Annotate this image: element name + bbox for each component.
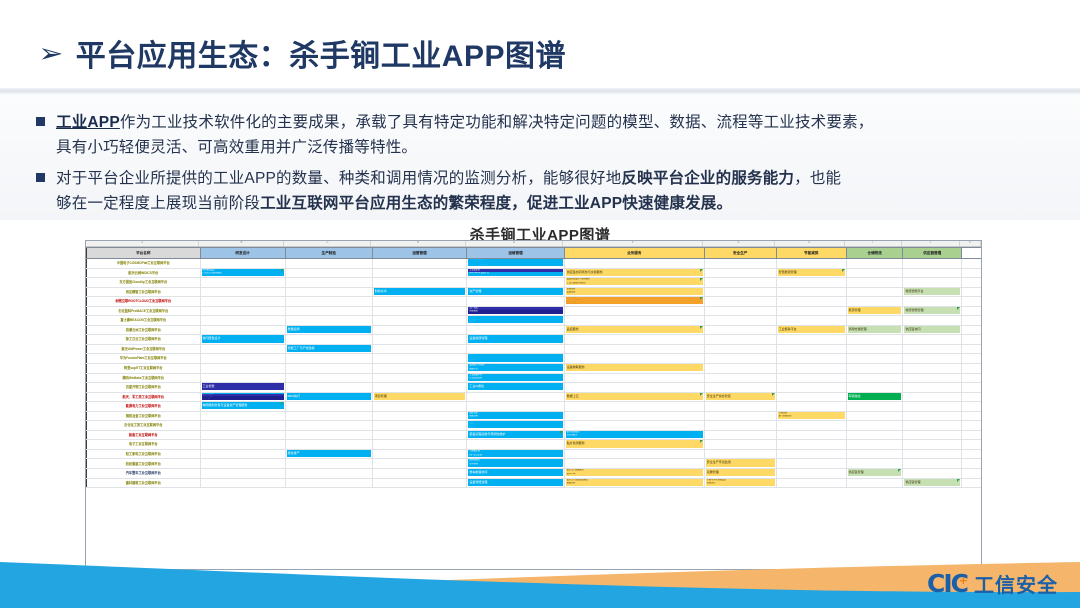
atlas-grid: 平台名称研发设计生产制造运营管理运维管理业务服务安全生产节能减排仓储物流供应链管…	[86, 247, 982, 488]
matrix-cell: 高炉优化能耗分析	[467, 411, 564, 421]
matrix-cell	[564, 344, 704, 354]
matrix-cell: 协同研发设计产品全生命周期管理	[200, 268, 285, 278]
matrix-cell	[962, 306, 982, 316]
table-row[interactable]: 百度开物工业互联网平台工业视觉工业AI质检	[87, 383, 983, 393]
matrix-bar: 设备运维	[566, 291, 703, 295]
matrix-cell	[776, 297, 846, 307]
matrix-cell	[564, 459, 704, 469]
matrix-cell	[846, 364, 903, 374]
comment-marker-icon	[957, 307, 960, 310]
matrix-cell: 面料数据库打样协同	[467, 459, 564, 469]
matrix-bar: 数据中台	[468, 368, 562, 372]
table-row[interactable]: 阿里supET工业互联网平台设备接入与管理数据中台设备物联服务	[87, 364, 983, 374]
matrix-bar: 排放管控	[706, 482, 775, 486]
spreadsheet-col-letter: I	[845, 241, 902, 246]
row-label: 中国电子COSMOPlat工业互联网平台	[87, 259, 201, 269]
matrix-bar: 烟气智能处理	[778, 415, 845, 419]
matrix-cell	[903, 402, 962, 412]
matrix-cell	[372, 325, 467, 335]
matrix-cell	[200, 478, 285, 488]
matrix-cell	[903, 440, 962, 450]
cell-bars: 安全生产环境监测	[706, 459, 775, 468]
cell-bars: 通用仓储管理	[848, 326, 902, 335]
matrix-bar: 智能巡检	[468, 310, 562, 314]
matrix-cell	[962, 344, 982, 354]
matrix-cell: 设备上云智能制造单元质量管控	[467, 316, 564, 326]
matrix-cell	[776, 421, 846, 431]
matrix-cell	[285, 335, 372, 345]
matrix-bar: 协同研发设计	[202, 335, 284, 342]
row-label: 腾讯WeMake工业互联网平台	[87, 373, 201, 383]
matrix-cell	[372, 469, 467, 479]
matrix-bar: 供应链管理	[848, 469, 902, 476]
bullet-run: 工业APP	[56, 114, 120, 131]
cell-bars: 工业视觉	[202, 383, 284, 392]
cell-bars: 工业AI质检	[468, 383, 562, 392]
matrix-cell	[846, 335, 903, 345]
comment-marker-icon	[700, 278, 703, 281]
matrix-cell	[564, 316, 704, 326]
row-label: 石化化工类工业互联网平台	[87, 421, 201, 431]
cell-bars: 协同研发设计	[202, 335, 284, 344]
matrix-cell	[776, 478, 846, 488]
matrix-cell	[903, 411, 962, 421]
row-label: 东方国信Cloudiip工业互联网平台	[87, 278, 201, 288]
matrix-cell	[962, 430, 982, 440]
matrix-cell	[903, 316, 962, 326]
table-row[interactable]: 紫光UNIPower工业互联网平台智能工厂与产线建模	[87, 344, 983, 354]
matrix-cell	[846, 354, 903, 364]
matrix-cell	[704, 297, 776, 307]
matrix-bar: 安全生产综合管控	[706, 393, 775, 400]
matrix-cell	[285, 383, 372, 393]
matrix-cell	[846, 411, 903, 421]
cell-bars: 军民融合	[848, 393, 902, 402]
row-label: 建材建筑工业互联网平台	[87, 478, 201, 488]
matrix-cell	[200, 449, 285, 459]
matrix-bar: 安全生产环境监测	[706, 459, 775, 466]
comment-marker-icon	[957, 479, 960, 482]
column-header: 研发设计	[200, 248, 285, 259]
matrix-cell	[704, 344, 776, 354]
matrix-cell: 装备远程运维与预测性维护	[467, 430, 564, 440]
matrix-cell	[962, 421, 982, 431]
row-label: 纺织服装工业互联网平台	[87, 459, 201, 469]
matrix-cell	[467, 278, 564, 288]
matrix-cell	[962, 278, 982, 288]
matrix-cell	[704, 287, 776, 297]
table-row[interactable]: 装备工业互联网平台装备远程运维与预测性维护备件管理服务后市场服务	[87, 430, 983, 440]
matrix-cell	[285, 268, 372, 278]
bullet-item: 工业APP作为工业技术软件化的主要成果，承载了具有特定功能和解决特定问题的模型、…	[36, 110, 1048, 160]
matrix-cell	[285, 402, 372, 412]
matrix-cell	[846, 478, 903, 488]
table-row[interactable]: 航天、军工类工业互联网平台协同设计与仿真型号研制管理数字孪生建模知识工程MES执…	[87, 392, 983, 402]
matrix-cell: 边缘计算设备数据采集云边协同	[467, 354, 564, 364]
matrix-bar: 物流智能管理	[904, 307, 960, 314]
matrix-cell: 能源管理	[846, 306, 903, 316]
matrix-cell: 资产管理	[467, 287, 564, 297]
matrix-cell	[962, 297, 982, 307]
matrix-cell: 协同设计与仿真型号研制管理数字孪生建模知识工程	[200, 392, 285, 402]
cell-bars: 财务共享	[374, 288, 466, 297]
matrix-bar: 供应链协同	[904, 326, 960, 333]
matrix-cell	[962, 316, 982, 326]
column-header: 业务服务	[564, 248, 704, 259]
matrix-cell	[372, 297, 467, 307]
row-label: 能源电力工业互联网平台	[87, 402, 201, 412]
spreadsheet-col-letter: D	[371, 241, 466, 246]
matrix-cell: 节能与节水系统改造排放管控	[704, 478, 776, 488]
matrix-cell	[846, 316, 903, 326]
matrix-bar: 资产管理	[468, 288, 562, 295]
cell-bars: 流程优化装置健康安环监测智能排产	[468, 421, 562, 430]
matrix-cell	[200, 421, 285, 431]
cell-bars: 余热回收烟气智能处理	[778, 412, 845, 421]
bullet-square-icon	[36, 173, 45, 182]
matrix-cell	[372, 449, 467, 459]
matrix-cell	[962, 469, 982, 479]
matrix-cell: 智慧能源管理	[776, 268, 846, 278]
matrix-cell: 工业AI质检	[467, 383, 564, 393]
matrix-bar: 品控服务	[566, 326, 703, 333]
matrix-cell	[704, 373, 776, 383]
matrix-cell	[564, 306, 704, 316]
matrix-cell	[903, 278, 962, 288]
table-row[interactable]: 石化化工类工业互联网平台流程优化装置健康安环监测智能排产	[87, 421, 983, 431]
cell-bars: 协同设计与仿真型号研制管理数字孪生建模知识工程	[202, 393, 284, 402]
matrix-cell	[776, 430, 846, 440]
table-row[interactable]: 汽车整车工业互联网平台整车制造协同安全生产数据服务整车OTA双碳管理供应链管理	[87, 469, 983, 479]
matrix-cell	[467, 440, 564, 450]
cell-bars: 设备接入与管理数据中台	[468, 364, 562, 373]
matrix-cell	[846, 278, 903, 288]
matrix-cell	[285, 373, 372, 383]
table-row[interactable]: 能源电力工业互联网平台电网规划仿真与设备资产管理服务	[87, 402, 983, 412]
matrix-cell	[564, 449, 704, 459]
matrix-cell	[200, 459, 285, 469]
matrix-cell	[846, 373, 903, 383]
matrix-bar: 设备智能托管服务	[566, 303, 703, 305]
spreadsheet-col-letter: K	[960, 241, 981, 246]
cell-bars: 设备物联服务	[566, 364, 703, 373]
matrix-cell	[372, 306, 467, 316]
table-row[interactable]: 中国电子COSMOPlat工业互联网平台标准和规范管理服务产品数据服务客户化生产…	[87, 259, 983, 269]
column-header: 运维管理	[467, 248, 564, 259]
matrix-cell	[846, 430, 903, 440]
cell-bars: 设备租赁服务工业品客户增值服务融资租赁服务设备智能托管服务	[566, 297, 703, 306]
cell-bars: 品控服务	[566, 326, 703, 335]
matrix-cell	[776, 335, 846, 345]
matrix-cell	[467, 344, 564, 354]
matrix-bar: MRO/MOM 运维平台	[468, 272, 562, 276]
matrix-cell	[962, 402, 982, 412]
table-row[interactable]: 建材建筑工业互联网平台设备智能治理安全生产远程巡查服务数据分析节能与节水系统改造…	[87, 478, 983, 488]
row-label: 装备工业互联网平台	[87, 430, 201, 440]
matrix-cell	[372, 268, 467, 278]
matrix-cell	[962, 354, 982, 364]
row-label: 汽车整车工业互联网平台	[87, 469, 201, 479]
matrix-cell	[903, 469, 962, 479]
matrix-cell	[372, 478, 467, 488]
matrix-bar: 能源管理	[848, 307, 902, 314]
bullet-run: 够在一定程度上展现当前阶段	[56, 195, 260, 212]
cell-bars: 物流智能管理	[904, 307, 960, 316]
matrix-cell: 工业数据中心企业微信协同	[467, 373, 564, 383]
row-label: 用友精智工业互联网平台	[87, 287, 201, 297]
matrix-cell	[962, 383, 982, 393]
matrix-cell: 供应链协同商务与交易服务	[564, 268, 704, 278]
matrix-cell	[776, 383, 846, 393]
matrix-cell	[200, 440, 285, 450]
matrix-cell	[467, 297, 564, 307]
matrix-bar: 数据上云	[566, 393, 703, 400]
matrix-cell: 设备状态监控与预测服务工业大数据分析服务	[564, 278, 704, 288]
cell-bars: 供应链协同商务与交易服务	[566, 269, 703, 278]
table-row[interactable]: 航天云网INDICS平台协同研发设计产品全生命周期管理工业云应用MRO/MOM …	[87, 268, 983, 278]
cell-bars: 项目管理	[374, 393, 466, 402]
table-row[interactable]: 钢铁冶金工业互联网平台高炉优化能耗分析余热回收烟气智能处理	[87, 411, 983, 421]
matrix-cell	[776, 449, 846, 459]
comment-marker-icon	[700, 326, 703, 329]
matrix-cell	[200, 259, 285, 269]
matrix-cell	[776, 459, 846, 469]
bullet-run: 工业互联网平台应用生态的繁荣程度，促进工业APP快速健康发展。	[260, 195, 732, 212]
table-row[interactable]: 浪潮云洲工业互联网平台质量追溯品控服务工业能耗平台通用仓储管理供应链协同	[87, 325, 983, 335]
matrix-cell	[564, 259, 704, 269]
matrix-bar: 通用仓储管理	[848, 326, 902, 333]
cell-bars: 设备健康管理	[468, 335, 562, 344]
matrix-cell	[704, 354, 776, 364]
matrix-cell: 供应链协同	[903, 325, 962, 335]
comment-marker-icon	[560, 431, 563, 434]
matrix-bar: 企业微信协同	[468, 377, 562, 381]
matrix-cell: 智能采购设备运维	[564, 287, 704, 297]
matrix-cell	[200, 411, 285, 421]
matrix-cell	[200, 364, 285, 374]
cell-bars: MES执行	[287, 393, 371, 402]
matrix-cell	[564, 402, 704, 412]
matrix-cell	[704, 383, 776, 393]
matrix-cell: 工业云应用MRO/MOM 运维平台	[467, 268, 564, 278]
comment-marker-icon	[700, 440, 703, 443]
comment-marker-icon	[281, 402, 284, 405]
matrix-cell: 质量追溯	[285, 325, 372, 335]
matrix-cell	[704, 402, 776, 412]
matrix-bar: 整车制造协同	[468, 469, 562, 476]
matrix-bar: 智能工厂与产线建模	[287, 345, 371, 352]
matrix-cell	[285, 421, 372, 431]
cell-bars: 贴片检测服务	[566, 440, 703, 449]
matrix-cell: 双碳管理	[704, 469, 776, 479]
row-label: 航天云网INDICS平台	[87, 268, 201, 278]
matrix-cell	[285, 430, 372, 440]
matrix-cell	[704, 411, 776, 421]
spreadsheet-col-letter: F	[563, 241, 703, 246]
matrix-cell	[846, 297, 903, 307]
matrix-cell	[285, 440, 372, 450]
matrix-cell	[704, 306, 776, 316]
matrix-cell	[372, 259, 467, 269]
spreadsheet-col-letter: A	[86, 241, 199, 246]
matrix-cell: 贴片检测服务	[564, 440, 704, 450]
cell-bars: 安全生产远程巡查服务数据分析	[566, 479, 703, 488]
bullet-run: ，也能	[794, 170, 841, 187]
column-header: 安全生产	[704, 248, 776, 259]
bullet-run: 对于平台企业所提供的工业APP的数量、种类和调用情况的监测分析，能够很好地	[56, 170, 621, 187]
page-title: 平台应用生态：杀手锏工业APP图谱	[76, 31, 566, 75]
table-row[interactable]: 石化盈科ProMACE工业互联网平台生产营运智能巡检能源管理物流智能管理	[87, 306, 983, 316]
table-row[interactable]: 轻工家电工业互联网平台柔性排产大规模定制用户交互定制	[87, 449, 983, 459]
matrix-cell	[200, 297, 285, 307]
matrix-cell	[564, 411, 704, 421]
matrix-cell	[564, 335, 704, 345]
matrix-cell	[285, 364, 372, 374]
matrix-cell	[372, 459, 467, 469]
bullet-run: 反映平台企业的服务能力	[621, 170, 794, 187]
matrix-cell: 设备健康管理	[467, 335, 564, 345]
matrix-cell	[903, 373, 962, 383]
matrix-bar: 云边协同	[468, 359, 562, 361]
matrix-cell	[372, 364, 467, 374]
matrix-cell	[372, 373, 467, 383]
table-row[interactable]: 徐工汉云工业互联网平台协同研发设计设备健康管理	[87, 335, 983, 345]
matrix-cell	[962, 268, 982, 278]
logo-wordmark: 工信安全	[974, 569, 1058, 598]
wave-shape-icon	[0, 548, 1080, 608]
matrix-cell: 数据上云	[564, 392, 704, 402]
bullet-text: 工业APP作为工业技术软件化的主要成果，承载了具有特定功能和解决特定问题的模型、…	[56, 110, 873, 160]
matrix-cell	[372, 278, 467, 288]
matrix-bar: 打样协同	[468, 463, 562, 467]
matrix-bar: 贴片检测服务	[566, 440, 703, 447]
logo-mark: CIC +	[927, 569, 967, 598]
matrix-cell: 工业能耗平台	[776, 325, 846, 335]
cell-bars: 柔性排产	[287, 450, 371, 459]
matrix-cell	[903, 421, 962, 431]
table-row[interactable]: 东方国信Cloudiip工业互联网平台设备状态监控与预测服务工业大数据分析服务	[87, 278, 983, 288]
table-row[interactable]: 腾讯WeMake工业互联网平台工业数据中心企业微信协同	[87, 373, 983, 383]
row-label: 百度开物工业互联网平台	[87, 383, 201, 393]
cell-bars: 物流智能平台	[904, 288, 960, 297]
matrix-cell: MES执行	[285, 392, 372, 402]
matrix-cell	[704, 259, 776, 269]
slide-title-row: ➢ 平台应用生态：杀手锏工业APP图谱	[0, 24, 1080, 82]
matrix-cell	[704, 335, 776, 345]
matrix-cell	[776, 440, 846, 450]
cell-bars: 资产管理	[468, 288, 562, 297]
matrix-cell	[846, 383, 903, 393]
matrix-cell	[776, 259, 846, 269]
comment-marker-icon	[772, 393, 775, 396]
matrix-cell	[962, 335, 982, 345]
cell-bars: 协同研发设计产品全生命周期管理	[202, 269, 284, 278]
matrix-cell	[903, 459, 962, 469]
matrix-cell	[846, 440, 903, 450]
matrix-cell	[776, 392, 846, 402]
matrix-bar: 设备智能治理	[468, 479, 562, 486]
matrix-cell	[903, 335, 962, 345]
cell-bars: 设备状态监控与预测服务工业大数据分析服务	[566, 278, 703, 287]
matrix-cell	[704, 449, 776, 459]
matrix-cell	[200, 278, 285, 288]
matrix-cell	[467, 325, 564, 335]
bullet-square-icon	[36, 117, 45, 126]
logo-plus-icon: +	[959, 574, 966, 587]
matrix-cell: 安全生产数据服务整车OTA	[564, 469, 704, 479]
spreadsheet-col-letter: H	[775, 241, 845, 246]
matrix-cell	[200, 316, 285, 326]
matrix-cell	[903, 297, 962, 307]
matrix-cell	[285, 287, 372, 297]
matrix-cell	[704, 316, 776, 326]
matrix-cell: 安全生产环境监测	[704, 459, 776, 469]
cell-bars: 能源管理	[848, 307, 902, 316]
matrix-cell	[776, 364, 846, 374]
row-label: 航天、军工类工业互联网平台	[87, 392, 201, 402]
column-header	[962, 248, 982, 259]
matrix-cell	[564, 383, 704, 393]
bullet-text: 对于平台企业所提供的工业APP的数量、种类和调用情况的监测分析，能够很好地反映平…	[56, 166, 841, 216]
matrix-cell	[372, 383, 467, 393]
cell-bars: 生产营运智能巡检	[468, 307, 562, 316]
cell-bars: 数据上云	[566, 393, 703, 402]
matrix-cell	[200, 325, 285, 335]
matrix-bar: 智能排产	[468, 427, 562, 429]
table-row[interactable]: 树根互联ROOTCLOUD工业互联网平台设备租赁服务工业品客户增值服务融资租赁服…	[87, 297, 983, 307]
matrix-cell: 设备智能治理	[467, 478, 564, 488]
title-arrow-icon: ➢	[38, 40, 63, 66]
table-row[interactable]: 纺织服装工业互联网平台面料数据库打样协同安全生产环境监测	[87, 459, 983, 469]
matrix-bar: 整车OTA	[566, 473, 703, 477]
matrix-cell	[962, 459, 982, 469]
matrix-cell	[372, 335, 467, 345]
matrix-cell	[846, 268, 903, 278]
matrix-cell: 大规模定制用户交互定制	[467, 449, 564, 459]
row-label: 电子工业互联网平台	[87, 440, 201, 450]
matrix-bar: MES执行	[287, 393, 371, 400]
matrix-cell	[903, 344, 962, 354]
row-label: 徐工汉云工业互联网平台	[87, 335, 201, 345]
table-row[interactable]: 华为FusionPlant工业互联网平台边缘计算设备数据采集云边协同	[87, 354, 983, 364]
table-row[interactable]: 电子工业互联网平台贴片检测服务	[87, 440, 983, 450]
cell-bars: 智能采购设备运维	[566, 288, 703, 297]
matrix-cell	[903, 268, 962, 278]
bullet-item: 对于平台企业所提供的工业APP的数量、种类和调用情况的监测分析，能够很好地反映平…	[36, 166, 1048, 216]
matrix-cell: 设备租赁服务工业品客户增值服务融资租赁服务设备智能托管服务	[564, 297, 704, 307]
matrix-cell	[704, 278, 776, 288]
matrix-cell	[467, 392, 564, 402]
matrix-bar: 产品全生命周期管理	[202, 272, 284, 276]
bullet-run: 具有小巧轻便灵活、可高效重用并广泛传播等特性。	[56, 139, 417, 156]
matrix-cell	[372, 402, 467, 412]
matrix-cell	[372, 430, 467, 440]
row-label: 富士康BEACON工业互联网平台	[87, 316, 201, 326]
table-row[interactable]: 用友精智工业互联网平台财务共享资产管理智能采购设备运维物流智能平台	[87, 287, 983, 297]
matrix-cell	[200, 373, 285, 383]
app-atlas-table[interactable]: ABCDEFGHIJK 平台名称研发设计生产制造运营管理运维管理业务服务安全生产…	[85, 240, 982, 570]
cell-bars: 双碳管理	[706, 469, 775, 478]
matrix-cell	[776, 373, 846, 383]
matrix-cell	[200, 287, 285, 297]
matrix-cell	[962, 478, 982, 488]
matrix-cell	[200, 430, 285, 440]
cell-bars: 工业数据中心企业微信协同	[468, 374, 562, 383]
matrix-cell	[776, 306, 846, 316]
table-row[interactable]: 富士康BEACON工业互联网平台设备上云智能制造单元质量管控	[87, 316, 983, 326]
matrix-cell: 财务共享	[372, 287, 467, 297]
matrix-cell	[467, 402, 564, 412]
